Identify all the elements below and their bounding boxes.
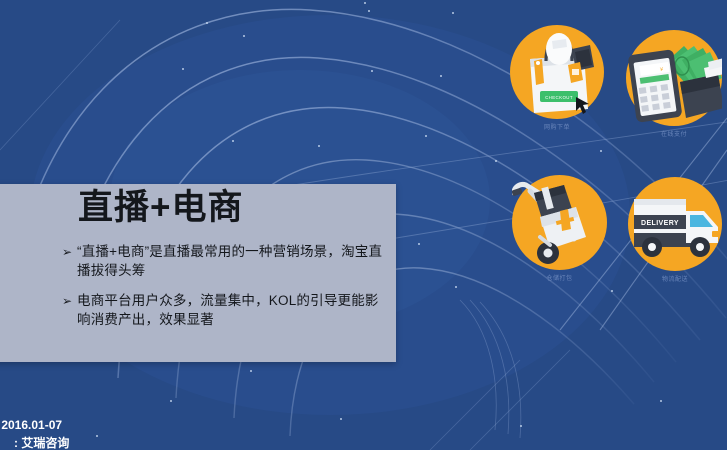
icon-caption-delivery-truck: 物流配送 — [628, 274, 722, 283]
bullet-text: “直播+电商”是直播最常用的一种营销场景，淘宝直播拔得头筹 — [77, 242, 387, 280]
icon-circle-hand-truck — [512, 175, 607, 270]
list-item: ➢ 电商平台用户众多，流量集中，KOL的引导更能影响消费产出，效果显著 — [62, 291, 387, 329]
star — [440, 75, 442, 77]
footer-date: : 2016.01-07 — [0, 418, 62, 432]
content-panel: 直播+电商 ➢ “直播+电商”是直播最常用的一种营销场景，淘宝直播拔得头筹 ➢ … — [0, 184, 396, 362]
hand-truck-icon — [512, 175, 607, 270]
star — [170, 400, 172, 402]
star — [96, 435, 98, 437]
star — [243, 35, 245, 37]
star — [364, 2, 366, 4]
arrow-bullet-icon: ➢ — [62, 243, 77, 261]
page-title: 直播+电商 — [78, 190, 243, 225]
mobile-payment-icon: ￥ — [626, 30, 722, 126]
list-item: ➢ “直播+电商”是直播最常用的一种营销场景，淘宝直播拔得头筹 — [62, 242, 387, 280]
svg-text:￥: ￥ — [659, 67, 665, 74]
star — [455, 286, 457, 288]
truck-delivery-label: DELIVERY — [641, 220, 679, 227]
icon-circle-mobile-payment: ￥ — [626, 30, 722, 126]
slide-canvas: 直播+电商 ➢ “直播+电商”是直播最常用的一种营销场景，淘宝直播拔得头筹 ➢ … — [0, 0, 727, 450]
star — [425, 135, 427, 137]
arrow-bullet-icon: ➢ — [62, 292, 77, 310]
star — [232, 140, 234, 142]
star — [452, 12, 454, 14]
star — [495, 160, 497, 162]
icon-caption-mobile-payment: 在线支付 — [626, 129, 722, 138]
star — [250, 370, 252, 372]
star — [182, 68, 184, 70]
star — [520, 425, 522, 427]
star — [340, 418, 342, 420]
star — [600, 150, 602, 152]
star — [206, 22, 208, 24]
footer-source: : 艾瑞咨询 — [14, 434, 69, 450]
icon-caption-shopping-bag: 网购下单 — [510, 122, 604, 131]
star — [611, 290, 613, 292]
icon-circle-shopping-bag: CHECKOUT — [510, 25, 604, 119]
checkout-button-label: CHECKOUT — [545, 95, 573, 100]
bullet-list: ➢ “直播+电商”是直播最常用的一种营销场景，淘宝直播拔得头筹 ➢ 电商平台用户… — [62, 242, 387, 340]
icon-circle-delivery-truck: DELIVERY — [628, 177, 722, 271]
icon-caption-hand-truck: 仓储打包 — [512, 273, 607, 282]
star — [660, 400, 662, 402]
bullet-text: 电商平台用户众多，流量集中，KOL的引导更能影响消费产出，效果显著 — [77, 291, 387, 329]
star — [371, 70, 373, 72]
star — [368, 10, 370, 12]
delivery-truck-icon: DELIVERY — [628, 177, 722, 271]
star — [318, 145, 320, 147]
shopping-bag-icon: CHECKOUT — [510, 25, 604, 119]
star — [418, 243, 420, 245]
